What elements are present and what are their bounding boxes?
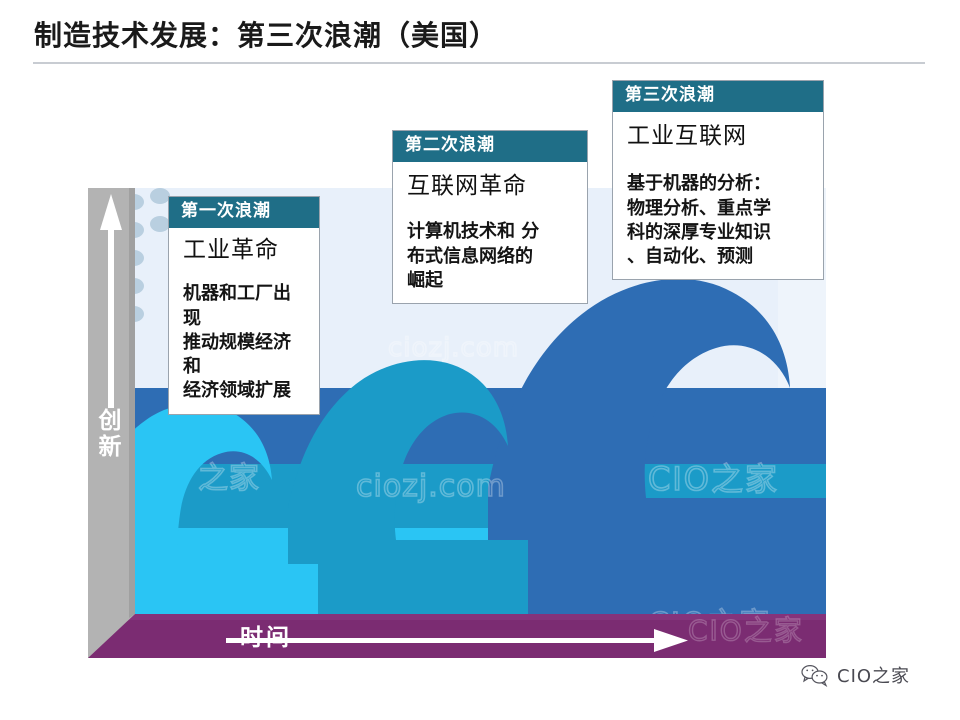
wave-card-first-header: 第一次浪潮: [169, 197, 319, 228]
wave-card-second[interactable]: 第二次浪潮 互联网革命 计算机技术和 分 布式信息网络的 崛起: [392, 130, 588, 304]
wechat-icon: [800, 663, 830, 687]
watermark-domain: ciozj.com: [356, 469, 506, 504]
wave-card-third-title: 工业互联网: [627, 122, 811, 151]
wave-card-third-header: 第三次浪潮: [613, 81, 823, 112]
wave-card-second-body: 互联网革命 计算机技术和 分 布式信息网络的 崛起: [393, 162, 587, 304]
watermark-brand-3: CIO之家: [688, 614, 804, 647]
watermark-domain-2: 之家: [198, 461, 260, 496]
wave-card-third-body: 工业互联网 基于机器的分析： 物理分析、重点学 科的深厚专业知识 、自动化、预测: [613, 112, 823, 280]
wave-card-third[interactable]: 第三次浪潮 工业互联网 基于机器的分析： 物理分析、重点学 科的深厚专业知识 、…: [612, 80, 824, 280]
wave-card-first-body: 工业革命 机器和工厂出现 推动规模经济和 经济领域扩展: [169, 228, 319, 414]
page-title: 制造技术发展：第三次浪潮（美国）: [34, 14, 498, 54]
footer-logo: CIO之家: [800, 662, 910, 688]
watermark-domain-4: ciozj.com: [388, 333, 519, 363]
wave-card-second-title: 互联网革命: [407, 172, 575, 201]
wave-card-first[interactable]: 第一次浪潮 工业革命 机器和工厂出现 推动规模经济和 经济领域扩展: [168, 196, 320, 415]
wave-card-first-title: 工业革命: [183, 236, 307, 265]
footer-logo-text: CIO之家: [837, 662, 910, 688]
title-divider: [33, 62, 925, 64]
wave-card-first-text: 机器和工厂出现 推动规模经济和 经济领域扩展: [183, 282, 307, 403]
wave-card-second-text: 计算机技术和 分 布式信息网络的 崛起: [407, 220, 575, 293]
x-axis-label: 时间: [240, 618, 292, 652]
y-axis: [88, 188, 148, 658]
wave-card-second-header: 第二次浪潮: [393, 131, 587, 162]
watermark-brand: CIO之家: [648, 460, 779, 498]
wave-card-third-text: 基于机器的分析： 物理分析、重点学 科的深厚专业知识 、自动化、预测: [627, 172, 811, 269]
